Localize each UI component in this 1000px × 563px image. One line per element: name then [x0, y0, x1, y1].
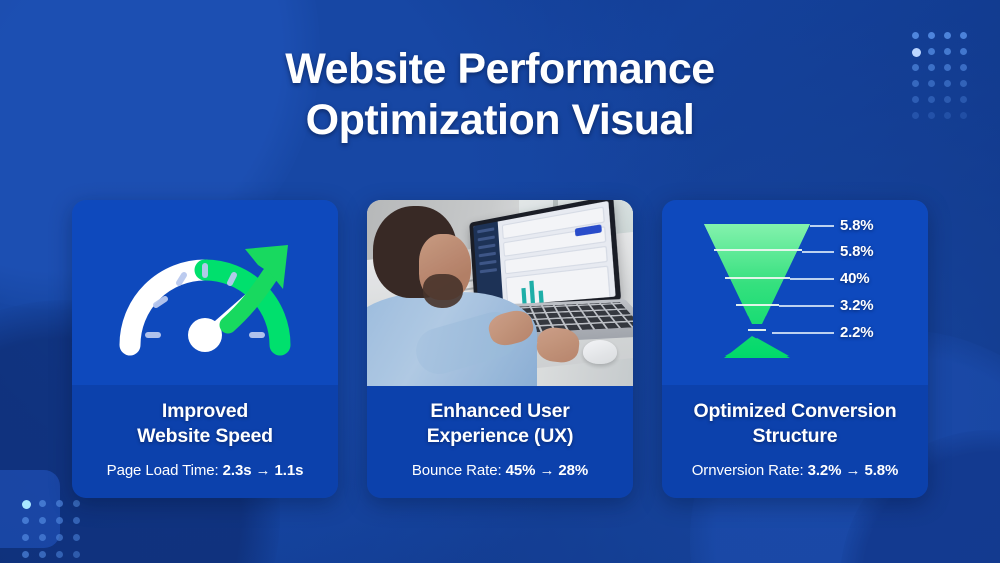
card-metric-1-before: 2.3s: [223, 462, 252, 479]
decor-dot: [56, 500, 73, 517]
decor-dots-bottom-left: [22, 500, 90, 563]
card-title-1-line-2: Website Speed: [137, 425, 273, 447]
funnel-label-5: 2.2%: [840, 324, 873, 341]
decor-dot: [22, 500, 39, 517]
card-metric-2-before: 45%: [506, 462, 536, 479]
funnel-label-1: 5.8%: [840, 217, 873, 234]
card-optimized-conversion-structure[interactable]: 5.8% 5.8% 40% 3.2% 2.2% Optimized Conver…: [662, 200, 928, 498]
funnel-label-4: 3.2%: [840, 297, 873, 314]
decor-dot: [39, 517, 56, 534]
card-metric-3: Ornversion Rate: 3.2% → 5.8%: [684, 462, 907, 479]
decor-dot: [39, 551, 56, 563]
card-metric-2: Bounce Rate: 45% → 28%: [404, 462, 596, 479]
decor-dot: [56, 534, 73, 551]
card-metric-3-after: 5.8%: [864, 462, 898, 479]
card-title-3-line-1: Optimized Conversion: [694, 400, 897, 422]
card-title-2-line-1: Enhanced User: [430, 400, 569, 422]
decor-dot: [22, 534, 39, 551]
card-metric-3-before: 3.2%: [808, 462, 842, 479]
card-metric-2-arrow: →: [539, 462, 554, 479]
card-metric-1-arrow: →: [256, 462, 271, 479]
page-title: Website Performance Optimization Visual: [0, 44, 1000, 145]
card-title-2: Enhanced User Experience (UX): [417, 399, 584, 448]
card-metric-3-label: Ornversion Rate:: [692, 462, 804, 479]
card-visual-funnel: 5.8% 5.8% 40% 3.2% 2.2%: [662, 200, 928, 386]
page-title-line-2: Optimization Visual: [0, 95, 1000, 146]
slide-root: Website Performance Optimization Visual: [0, 0, 1000, 563]
page-title-line-1: Website Performance: [0, 44, 1000, 95]
decor-dot: [22, 517, 39, 534]
card-visual-photo: [367, 200, 633, 386]
card-text-2: Enhanced User Experience (UX) Bounce Rat…: [367, 386, 633, 498]
card-text-1: Improved Website Speed Page Load Time: 2…: [72, 386, 338, 498]
card-title-1-line-1: Improved: [162, 400, 248, 422]
card-metric-2-after: 28%: [558, 462, 588, 479]
decor-dot: [73, 551, 90, 563]
card-metric-3-arrow: →: [845, 462, 860, 479]
decor-dot: [56, 551, 73, 563]
card-enhanced-user-experience[interactable]: Enhanced User Experience (UX) Bounce Rat…: [367, 200, 633, 498]
funnel-label-2: 5.8%: [840, 243, 873, 260]
photo-man-using-laptop-dashboard: [367, 200, 633, 386]
card-metric-1-after: 1.1s: [275, 462, 304, 479]
card-row: Improved Website Speed Page Load Time: 2…: [72, 200, 928, 498]
card-visual-gauge: [72, 200, 338, 386]
card-metric-1: Page Load Time: 2.3s → 1.1s: [99, 462, 312, 479]
card-title-3: Optimized Conversion Structure: [684, 399, 907, 448]
decor-dot: [22, 551, 39, 563]
decor-dot: [73, 517, 90, 534]
speedometer-gauge-icon: [100, 213, 310, 373]
decor-dot: [39, 534, 56, 551]
decor-dot: [39, 500, 56, 517]
card-metric-1-label: Page Load Time:: [107, 462, 219, 479]
card-title-1: Improved Website Speed: [127, 399, 283, 448]
funnel-shape: [662, 200, 928, 386]
decor-dot: [73, 500, 90, 517]
decor-dot: [73, 534, 90, 551]
card-text-3: Optimized Conversion Structure Ornversio…: [662, 386, 928, 498]
card-improved-website-speed[interactable]: Improved Website Speed Page Load Time: 2…: [72, 200, 338, 498]
card-metric-2-label: Bounce Rate:: [412, 462, 502, 479]
card-title-3-line-2: Structure: [753, 425, 838, 447]
funnel-label-3: 40%: [840, 270, 869, 287]
conversion-funnel-chart: 5.8% 5.8% 40% 3.2% 2.2%: [662, 200, 928, 386]
decor-dot: [56, 517, 73, 534]
card-title-2-line-2: Experience (UX): [427, 425, 574, 447]
